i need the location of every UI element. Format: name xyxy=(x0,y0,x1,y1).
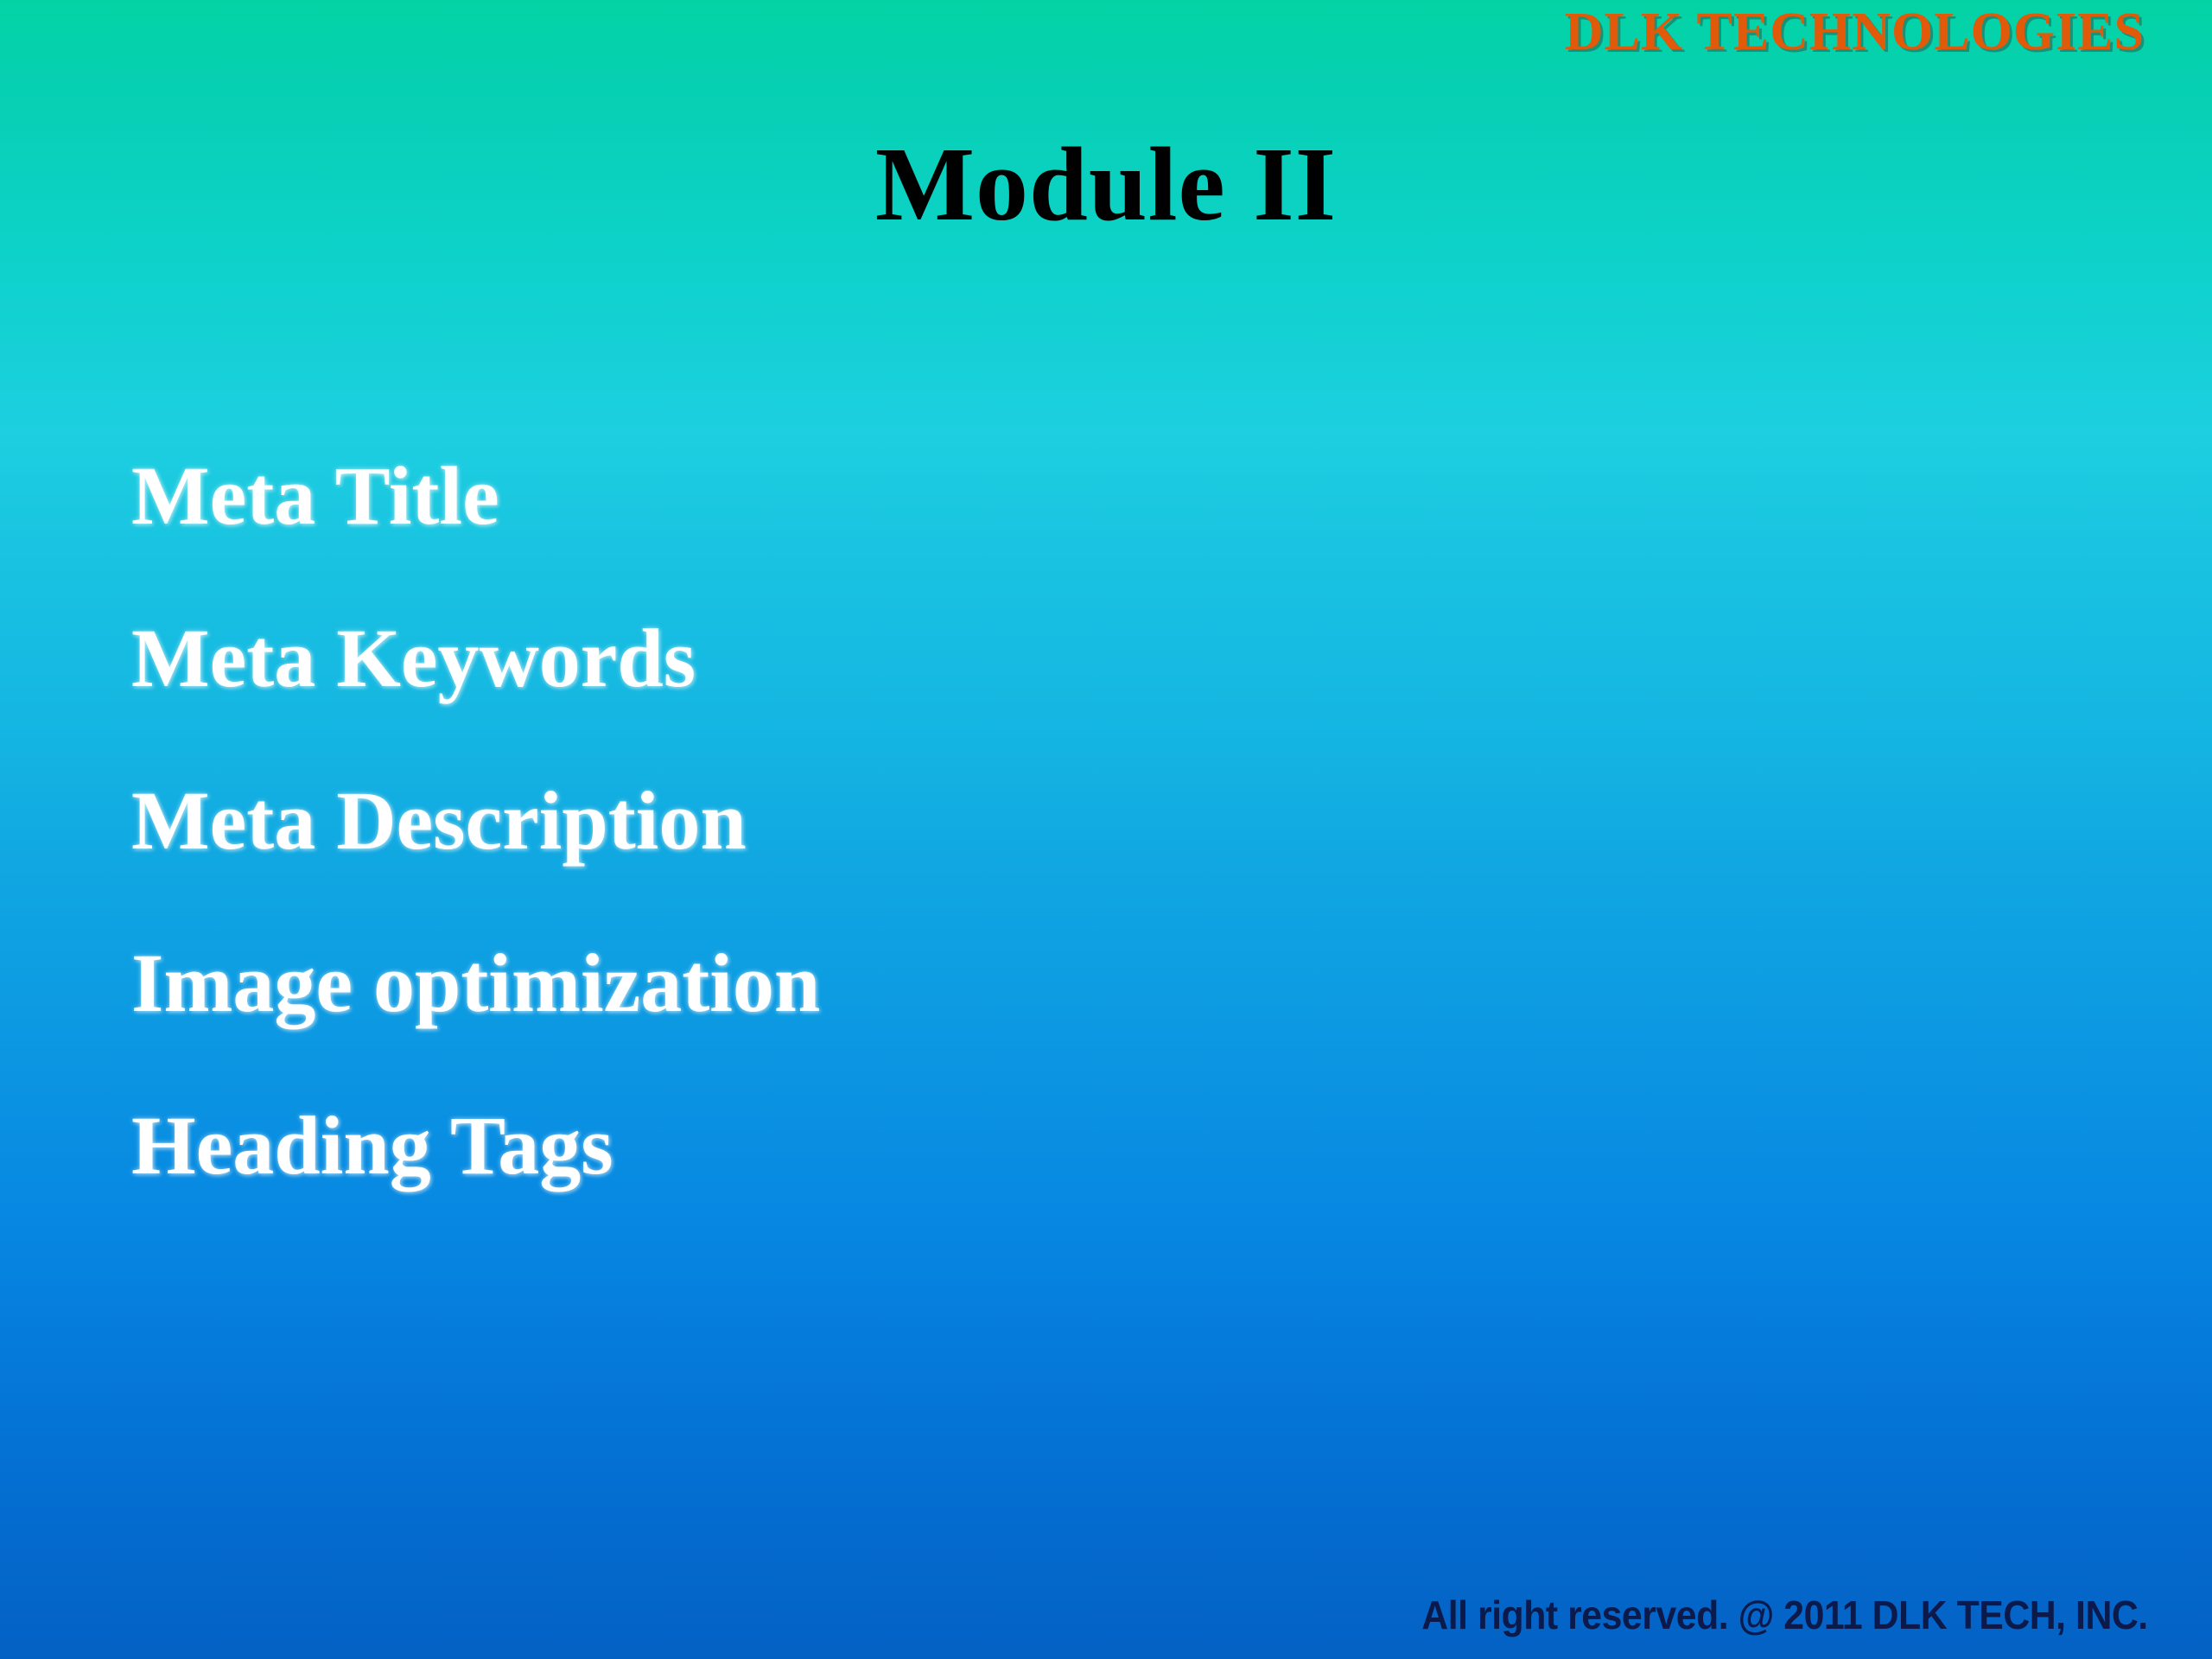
list-item: Image optimization xyxy=(131,902,1859,1065)
slide-title: Module II xyxy=(0,130,2212,240)
presentation-slide: DLK TECHNOLOGIES Module II Meta Title Me… xyxy=(0,0,2212,1659)
list-item: Meta Description xyxy=(131,740,1859,902)
footer-copyright: All right reserved. @ 2011 DLK TECH, INC… xyxy=(1422,1595,2148,1635)
list-item: Heading Tags xyxy=(131,1065,1859,1227)
content-list: Meta Title Meta Keywords Meta Descriptio… xyxy=(131,415,1859,1227)
list-item: Meta Keywords xyxy=(131,577,1859,740)
list-item: Meta Title xyxy=(131,415,1859,577)
brand-title: DLK TECHNOLOGIES xyxy=(1565,5,2145,59)
